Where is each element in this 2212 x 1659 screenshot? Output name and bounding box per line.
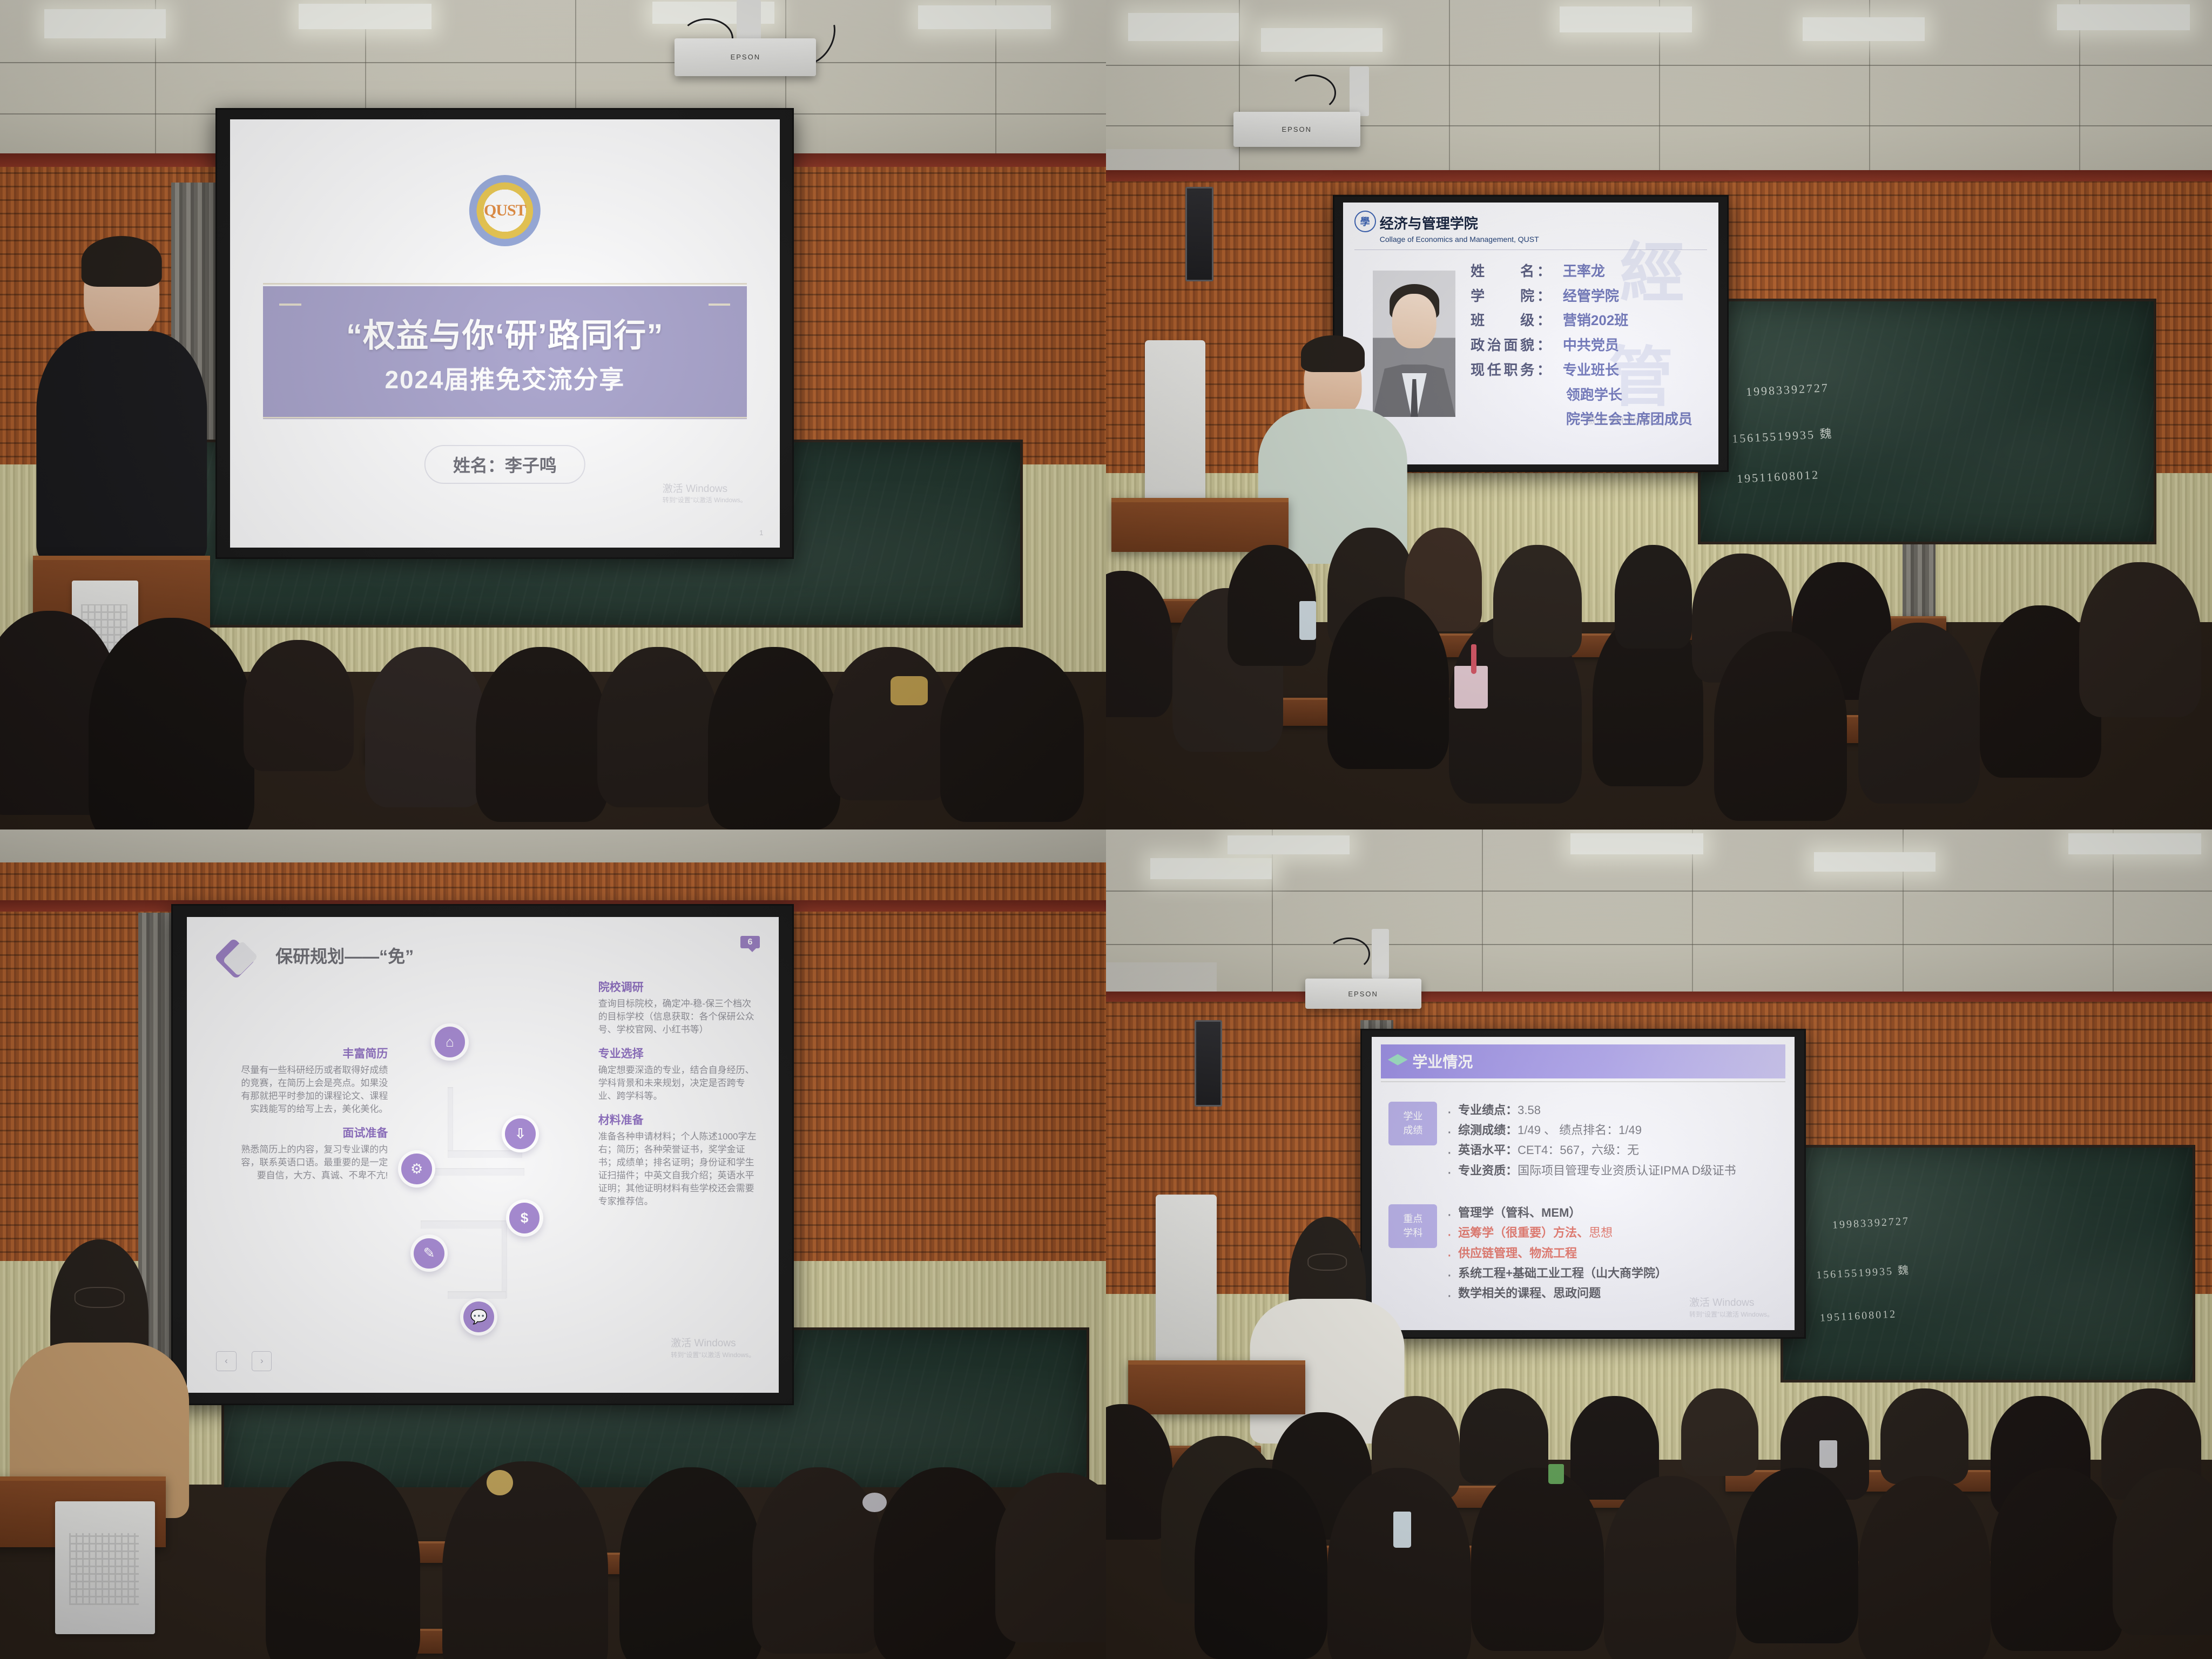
section-academic-scores: 学业成绩 专业绩点：3.58 综测成绩：1/49 、 绩点排名：1/49 英语水… <box>1388 1102 1782 1183</box>
slide-prev-button[interactable]: ‹ <box>216 1351 236 1371</box>
projection-screen-frame: QUST “权益与你‘研’路同行” 2024届推免交流分享 姓名：李子鸣 激活 … <box>215 108 794 559</box>
drink-cup <box>1454 666 1487 709</box>
projection-screen: 学业情况 学业成绩 专业绩点：3.58 综测成绩：1/49 、 绩点排名：1/4… <box>1372 1037 1795 1330</box>
node-home: ⌂ <box>431 1023 468 1061</box>
gears-icon: ⚙ <box>401 1154 432 1184</box>
profile-extra-role: 院学生会主席团成员 <box>1471 408 1703 428</box>
slide-title: 保研规划——“免” <box>275 943 414 968</box>
list-item: 供应链管理、物流工程 <box>1445 1245 1667 1262</box>
page-badge: 6 <box>740 936 760 949</box>
list-item: 数学相关的课程、思政问题 <box>1445 1285 1667 1302</box>
cloud-download-icon: ⇩ <box>505 1118 536 1149</box>
chalkboard-note: 15615519935 魏 <box>1816 1261 1910 1282</box>
profile-row: 学 院： 经管学院 <box>1471 285 1703 305</box>
notepad-pencil-icon: ✎ <box>414 1238 444 1269</box>
speech-bubbles-icon: 💬 <box>463 1301 494 1332</box>
chalkboard-note: 19511608012 <box>1736 468 1819 486</box>
slide-header-bar: 学业情况 <box>1381 1044 1785 1078</box>
wall-speaker <box>1185 187 1213 281</box>
panel-bottom-right: 19983392727 15615519935 魏 19511608012 EP… <box>1106 829 2212 1659</box>
profile-row: 现任职务： 专业班长 <box>1471 359 1703 379</box>
chalkboard: 19983392727 15615519935 魏 19511608012 <box>1698 299 2157 544</box>
panel-top-right: 19983392727 15615519935 魏 19511608012 EP… <box>1106 0 2212 829</box>
node-notepad: ✎ <box>410 1235 448 1272</box>
section-tag: 学业成绩 <box>1388 1102 1437 1145</box>
process-diagram: ⌂ ⇩ ⚙ $ ✎ 💬 <box>394 1002 601 1354</box>
list-item: 管理学（管科、MEM） <box>1445 1204 1667 1222</box>
list-item: 系统工程+基础工业工程（山大商学院） <box>1445 1265 1667 1282</box>
hair-clip <box>891 676 928 705</box>
chalkboard-note: 19511608012 <box>1820 1308 1897 1324</box>
profile-extra-role: 领跑学长 <box>1471 384 1703 404</box>
projection-screen: 學 经济与管理学院 Collage of Economics and Manag… <box>1343 203 1718 464</box>
list-item: 运筹学（很重要）方法、思想 <box>1445 1224 1667 1242</box>
windows-activation-watermark: 激活 Windows 转到“设置”以激活 Windows。 <box>663 482 747 505</box>
node-gears: ⚙ <box>398 1150 435 1188</box>
chalkboard-note: 19983392727 <box>1832 1215 1910 1231</box>
projector: EPSON <box>1233 112 1361 147</box>
projector-brand-label: EPSON <box>731 53 761 61</box>
list-item: 专业资质：国际项目管理专业资质认证IPMA D级证书 <box>1445 1162 1736 1179</box>
left-text-column: 丰富简历 尽量有一些科研经历或者取得好成绩的竞赛，在简历上会是亮点。如果没有那就… <box>234 1045 388 1191</box>
text-block: 材料准备 准备各种申请材料；个人陈述1000字左右；简历；各种荣誉证书，奖学金证… <box>598 1111 758 1208</box>
projection-screen-frame: 学业情况 学业成绩 专业绩点：3.58 综测成绩：1/49 、 绩点排名：1/4… <box>1360 1029 1806 1339</box>
hair-clip <box>862 1493 887 1513</box>
drink-can <box>1548 1464 1564 1484</box>
slide-subtitle: 2024届推免交流分享 <box>385 360 625 396</box>
projection-screen: QUST “权益与你‘研’路同行” 2024届推免交流分享 姓名：李子鸣 激活 … <box>230 119 780 548</box>
projection-screen: 保研规划——“免” 6 丰富简历 尽量有一些科研经历或者取得好成绩的竞赛，在简历… <box>187 917 779 1393</box>
projector: EPSON <box>675 38 816 77</box>
podium <box>1111 498 1289 552</box>
qust-logo-icon: QUST <box>469 175 541 246</box>
chalkboard-note: 19983392727 <box>1745 381 1829 399</box>
node-discussion: 💬 <box>460 1298 497 1336</box>
text-block: 专业选择 确定想要深造的专业，结合自身经历、学科背景和未来规划，决定是否跨专业、… <box>598 1045 758 1103</box>
profile-row: 政治面貌： 中共党员 <box>1471 334 1703 354</box>
wall-speaker <box>1195 1020 1222 1107</box>
text-block: 面试准备 熟悉简历上的内容，复习专业课的内容，联系英语口语。最重要的是一定要自信… <box>234 1124 388 1182</box>
title-band: “权益与你‘研’路同行” 2024届推免交流分享 <box>263 286 747 419</box>
projector-brand-label: EPSON <box>1282 125 1312 133</box>
panel-top-left: EPSON QUST “权益与你‘研’路同行” 2024届推免交流分享 <box>0 0 1106 829</box>
college-name-en: Collage of Economics and Management, QUS… <box>1380 235 1539 244</box>
projector: EPSON <box>1305 979 1421 1008</box>
text-block: 丰富简历 尽量有一些科研经历或者取得好成绩的竞赛，在简历上会是亮点。如果没有那就… <box>234 1045 388 1116</box>
presenter <box>1283 348 1382 564</box>
podium-equipment-box <box>55 1501 154 1634</box>
profile-row: 姓 名： 王率龙 <box>1471 260 1703 280</box>
chalkboard-note: 15615519935 魏 <box>1732 424 1834 447</box>
podium <box>1128 1360 1305 1414</box>
photo-collage: EPSON QUST “权益与你‘研’路同行” 2024届推免交流分享 <box>0 0 2212 1659</box>
slide-next-button[interactable]: › <box>252 1351 272 1371</box>
section-tag: 重点学科 <box>1388 1204 1437 1248</box>
section-key-subjects: 重点学科 管理学（管科、MEM） 运筹学（很重要）方法、思想 供应链管理、物流工… <box>1388 1204 1782 1305</box>
id-photo <box>1373 271 1455 417</box>
slide-header-title: 学业情况 <box>1412 1050 1473 1072</box>
list-item: 综测成绩：1/49 、 绩点排名：1/49 <box>1445 1122 1736 1139</box>
list-item: 英语水平：CET4：567，六级：无 <box>1445 1142 1736 1159</box>
text-block: 院校调研 查询目标院校，确定冲-稳-保三个档次的目标学校（信息获取：各个保研公众… <box>598 979 758 1036</box>
projection-screen-frame: 保研规划——“免” 6 丰富简历 尽量有一些科研经历或者取得好成绩的竞赛，在简历… <box>171 904 794 1405</box>
decorative-diamond-icon <box>219 941 255 976</box>
college-emblem-icon: 學 <box>1354 211 1376 232</box>
slide-page-number: 1 <box>759 529 763 537</box>
drink-straw <box>1471 644 1476 675</box>
node-idea-value: $ <box>506 1199 543 1237</box>
chalkboard: 19983392727 15615519935 魏 19511608012 <box>1781 1145 2195 1382</box>
podium-equipment-box <box>72 581 138 680</box>
presenter <box>61 249 183 564</box>
graduation-cap-icon <box>1388 1054 1408 1069</box>
windows-activation-watermark: 激活 Windows 转到“设置”以激活 Windows。 <box>671 1337 755 1359</box>
air-conditioner <box>1156 1195 1217 1377</box>
panel-bottom-left: 保研规划——“免” 6 丰富简历 尽量有一些科研经历或者取得好成绩的竞赛，在简历… <box>0 829 1106 1659</box>
slide-title: “权益与你‘研’路同行” <box>346 309 664 356</box>
projector-brand-label: EPSON <box>1348 990 1378 998</box>
lightbulb-dollar-icon: $ <box>509 1203 540 1233</box>
presenter-name-pill: 姓名：李子鸣 <box>424 445 585 484</box>
right-text-column: 院校调研 查询目标院校，确定冲-稳-保三个档次的目标学校（信息获取：各个保研公众… <box>598 979 758 1217</box>
node-cloud-download: ⇩ <box>502 1115 539 1152</box>
water-bottle <box>1393 1512 1411 1547</box>
list-item: 专业绩点：3.58 <box>1445 1102 1736 1119</box>
college-name-cn: 经济与管理学院 <box>1380 213 1539 233</box>
profile-row: 班 级： 营销202班 <box>1471 309 1703 329</box>
home-icon: ⌂ <box>435 1027 466 1057</box>
